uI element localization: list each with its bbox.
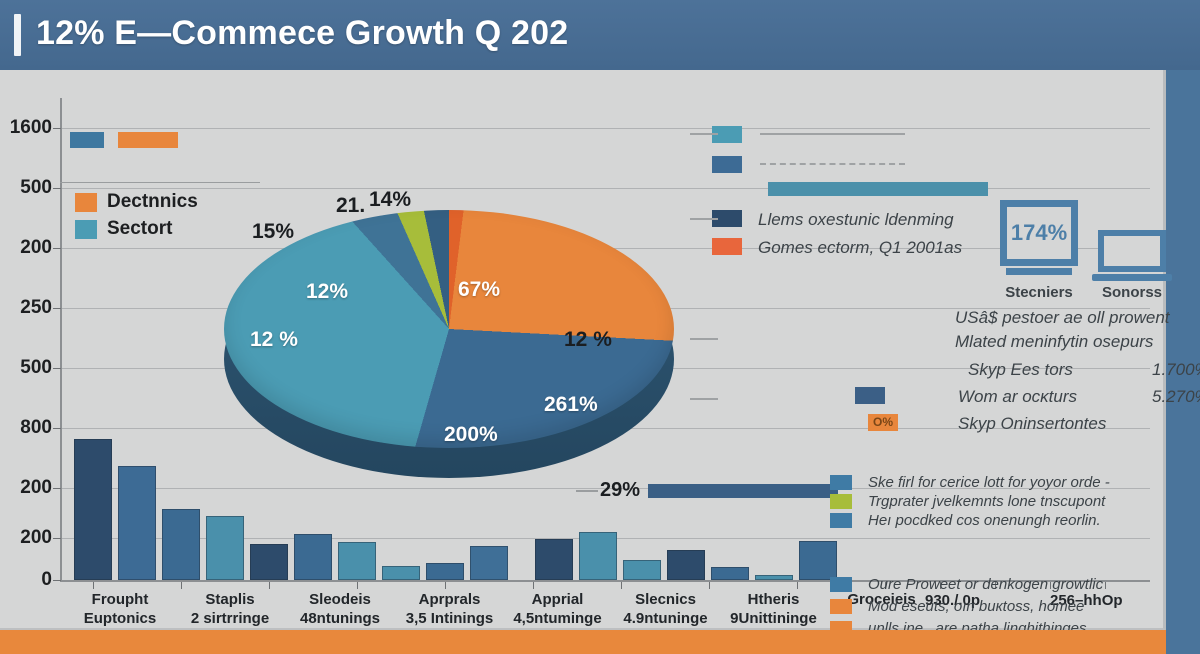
annotation-tick [576, 490, 598, 492]
title-bar: 12% E—Commece Growth Q 202 [0, 0, 1200, 70]
note-text: Oure Proweet or denkogen growtlic [868, 576, 1103, 593]
x-category-line1: Froupht [92, 591, 149, 608]
series-legend-swatch [712, 238, 742, 255]
pie-slice-label: 12 % [564, 328, 612, 352]
monitor-icon: 174% [1000, 200, 1078, 278]
y-tick-label: 200 [0, 527, 52, 549]
tick-rule [690, 338, 718, 340]
legend-item-label: Sectort [107, 218, 172, 240]
stat-row-swatch [855, 387, 885, 404]
bar[interactable] [579, 532, 617, 580]
y-tick-mark [53, 308, 61, 309]
stat-row-name: Skyp Ees tors [968, 360, 1073, 380]
bar[interactable] [118, 466, 156, 580]
stat-row-name: Skyp Oninsertontes [958, 414, 1106, 434]
y-tick-mark [53, 488, 61, 489]
y-tick-mark [53, 128, 61, 129]
stat-row-name: Wom ar ocκturs [958, 387, 1077, 407]
monitor-stand [1006, 268, 1072, 275]
laptop-base [1092, 274, 1172, 281]
legend-color-swatch [75, 193, 97, 212]
tick-rule [690, 133, 718, 135]
stats-line-1: USâ$ pestoer aе oll prowent [955, 308, 1170, 328]
bar[interactable] [535, 539, 573, 580]
mini-legend-solid-line [760, 133, 905, 135]
title-accent-bar [14, 14, 21, 56]
laptop-screen [1098, 230, 1166, 272]
pie-slice-label: 12 % [250, 328, 298, 352]
series-legend-label: Llems oxestunic ldenming [758, 210, 954, 230]
legend-swatch-blue [70, 132, 104, 148]
stat-row-chip: O% [868, 414, 898, 431]
mini-legend-swatch-blue [712, 156, 742, 173]
x-tick-mark [533, 582, 534, 589]
mini-legend-dashed-line [760, 163, 905, 165]
y-tick-mark [53, 428, 61, 429]
pie-slice-label: 21. [336, 194, 365, 218]
y-tick-mark [53, 580, 61, 581]
page-title: 12% E—Commece Growth Q 202 [36, 14, 568, 53]
note-swatch [830, 599, 852, 614]
y-tick-label: 0 [0, 569, 52, 591]
tick-rule [690, 218, 718, 220]
x-tick-mark [445, 582, 446, 589]
note-text: Trgprater jvelkemnts lone tnscupont [868, 493, 1105, 510]
mini-legend-bar [768, 182, 988, 196]
stats-line-2: Mlated meninfytin osepurs [955, 332, 1153, 352]
pie-slice-label: 67% [458, 278, 500, 302]
stat-row-value: 1.700% [1152, 360, 1200, 380]
bar[interactable] [426, 563, 464, 580]
pie-slice-label: 14% [369, 188, 411, 212]
bar[interactable] [74, 439, 112, 580]
y-tick-label: 500 [0, 177, 52, 199]
y-tick-label: 800 [0, 417, 52, 439]
x-tick-mark [621, 582, 622, 589]
legend-divider [60, 182, 260, 183]
y-tick-label: 500 [0, 357, 52, 379]
tick-rule [690, 398, 718, 400]
bottom-accent-bar [0, 630, 1166, 654]
laptop-icon [1092, 230, 1172, 284]
bar[interactable] [470, 546, 508, 580]
x-category-line1: Slecnics [635, 591, 696, 608]
y-tick-label: 200 [0, 477, 52, 499]
x-category-line1: Apprial [532, 591, 584, 608]
note-text: Ske firl for cerice lott for yoyor orde … [868, 474, 1110, 491]
y-tick-label: 1600 [0, 117, 52, 139]
pie-slice-label: 15% [252, 220, 294, 244]
x-category-line1: Sleodeis [309, 591, 371, 608]
note-swatch [830, 577, 852, 592]
laptop-caption: Sonorss [1084, 284, 1180, 301]
y-axis-line [60, 98, 62, 580]
bar[interactable] [623, 560, 661, 580]
chart-panel: 1600 500 200 250 500 800 200 200 0 [0, 70, 1166, 630]
annotation-label: 29% [600, 479, 640, 502]
pie-chart: 67% 12 % 261% 200% 12 % 12% 15% 21. 14% [206, 188, 696, 508]
pie-slice-label: 261% [544, 393, 598, 417]
monitor-value: 174% [1000, 220, 1078, 246]
note-swatch [830, 513, 852, 528]
y-tick-mark [53, 368, 61, 369]
monitor-caption: Stecniers [990, 284, 1088, 301]
bar[interactable] [206, 516, 244, 580]
y-tick-label: 200 [0, 237, 52, 259]
note-text: Heı pocdked cos onenungh reorlin. [868, 512, 1101, 529]
y-tick-mark [53, 538, 61, 539]
right-panel: Llems oxestunic ldenming Gomes ectorm, Q… [700, 70, 1166, 630]
x-category-line1: Aprprals [419, 591, 481, 608]
y-tick-mark [53, 188, 61, 189]
infographic-root: 12% E—Commece Growth Q 202 1600 500 200 … [0, 0, 1200, 654]
x-tick-mark [93, 582, 94, 589]
x-tick-mark [181, 582, 182, 589]
bar[interactable] [294, 534, 332, 580]
note-swatch [830, 494, 852, 509]
bar[interactable] [382, 566, 420, 580]
x-category-line1: Staplis [205, 591, 254, 608]
pie-slice-label: 12% [306, 280, 348, 304]
legend-color-swatch [75, 220, 97, 239]
stat-row-value: 5.270% [1152, 387, 1200, 407]
note-text: Mod eseuts, oın buкtoss, homee [868, 598, 1084, 615]
y-tick-label: 250 [0, 297, 52, 319]
note-swatch [830, 475, 852, 490]
x-tick-mark [357, 582, 358, 589]
legend-item-label: Dectnnics [107, 191, 198, 213]
x-tick-mark [269, 582, 270, 589]
series-legend-label: Gomes ectorm, Q1 2001as [758, 238, 962, 258]
bar[interactable] [162, 509, 200, 580]
bar[interactable] [250, 544, 288, 580]
legend-swatch-orange [118, 132, 178, 148]
pie-slice-label: 200% [444, 423, 498, 447]
bar[interactable] [338, 542, 376, 580]
y-tick-mark [53, 248, 61, 249]
